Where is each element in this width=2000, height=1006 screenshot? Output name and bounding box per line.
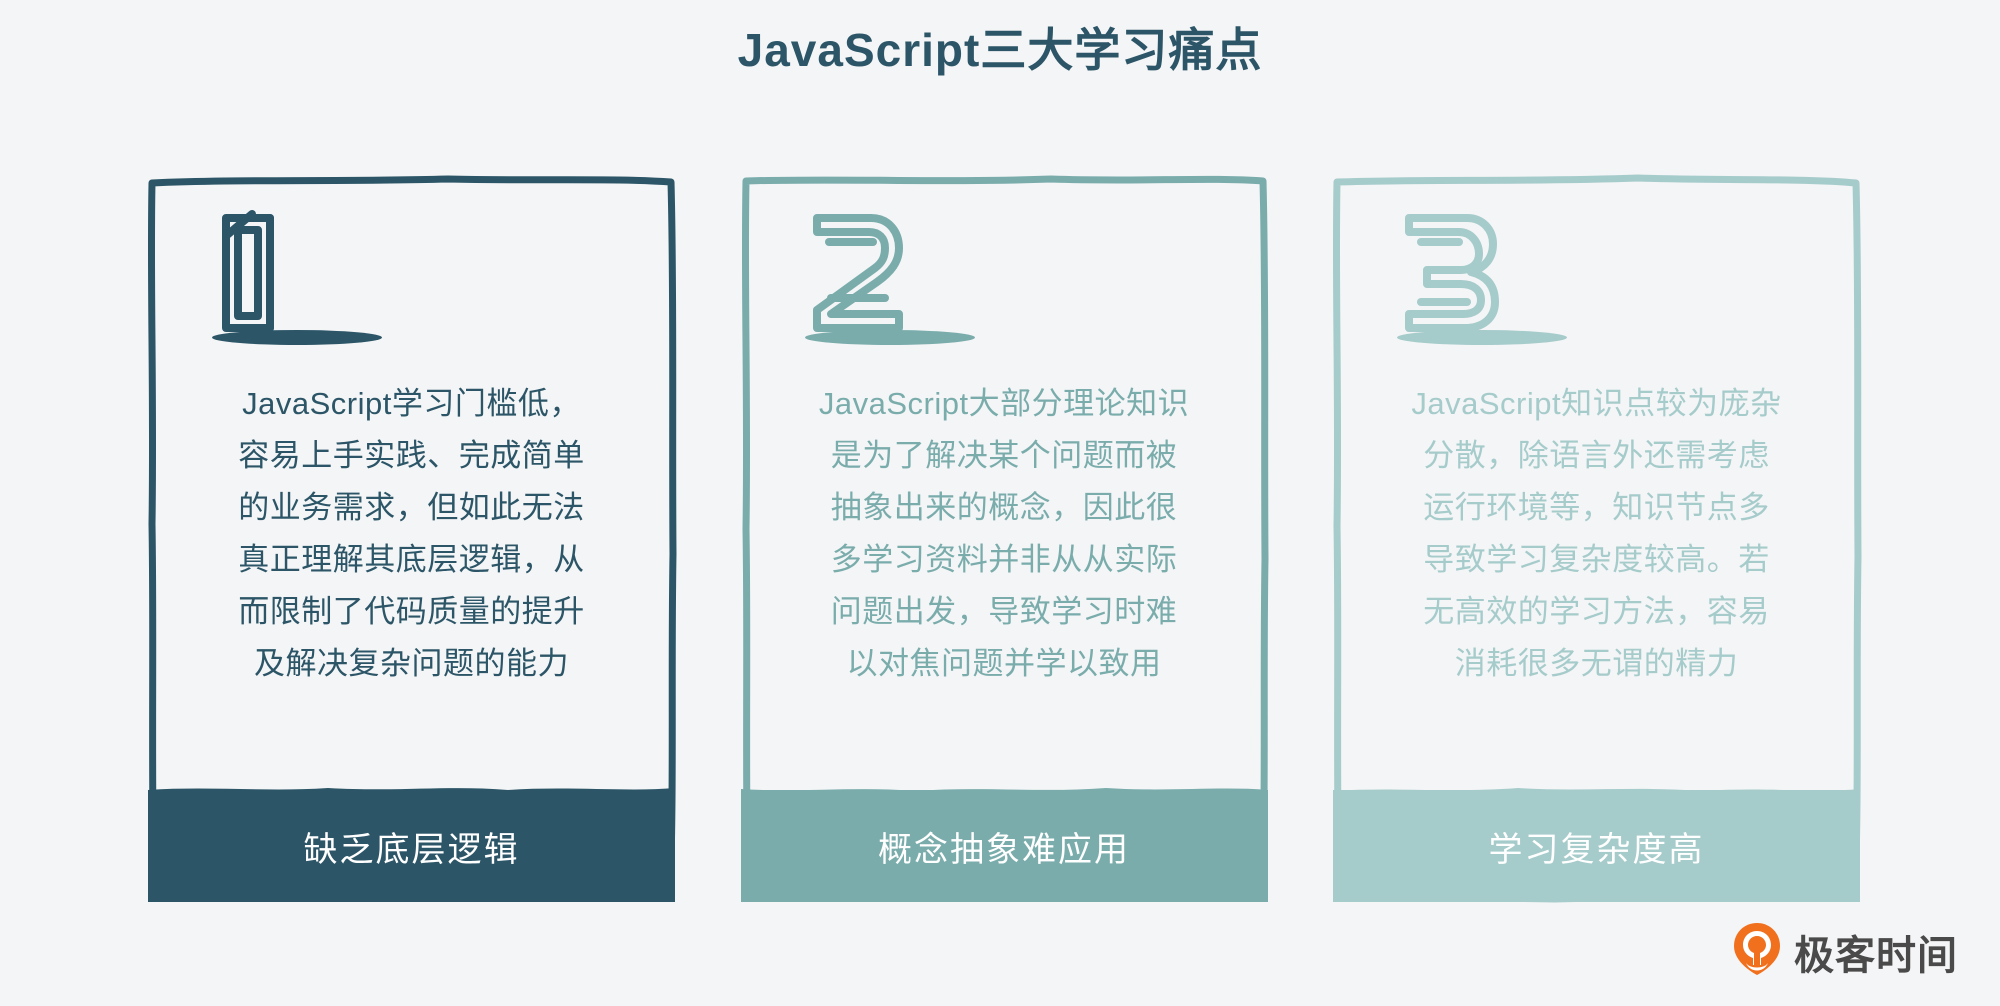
outline-number-two-icon xyxy=(801,198,1224,338)
card-footer-label: 学习复杂度高 xyxy=(1489,822,1705,871)
card-numeral xyxy=(1393,198,1816,364)
card-footer[interactable]: 概念抽象难应用 xyxy=(741,790,1268,902)
card-body: JavaScript知识点较为庞杂 分散，除语言外还需考虑 运行环境等，知识节点… xyxy=(1333,174,1860,790)
footer-torn-edge xyxy=(741,783,1268,797)
card-footer[interactable]: 学习复杂度高 xyxy=(1333,790,1860,902)
brand-name: 极客时间 xyxy=(1794,923,1958,981)
footer-torn-edge xyxy=(1333,783,1860,797)
numeral-shadow xyxy=(1397,330,1567,345)
outline-number-one-icon xyxy=(208,198,631,338)
numeral-shadow xyxy=(805,330,975,345)
outline-number-three-icon xyxy=(1393,198,1816,338)
card-body: JavaScript大部分理论知识 是为了解决某个问题而被 抽象出来的概念，因此… xyxy=(741,174,1268,790)
numeral-shadow xyxy=(212,330,382,345)
card-description: JavaScript知识点较为庞杂 分散，除语言外还需考虑 运行环境等，知识节点… xyxy=(1377,378,1816,690)
card-body: JavaScript学习门槛低， 容易上手实践、完成简单 的业务需求，但如此无法… xyxy=(148,174,675,790)
footer-torn-edge xyxy=(148,783,675,797)
card-numeral xyxy=(208,198,631,364)
card-description: JavaScript大部分理论知识 是为了解决某个问题而被 抽象出来的概念，因此… xyxy=(785,378,1224,690)
page-title: JavaScript三大学习痛点 xyxy=(0,18,2000,82)
card-description: JavaScript学习门槛低， 容易上手实践、完成简单 的业务需求，但如此无法… xyxy=(192,378,631,690)
card-footer[interactable]: 缺乏底层逻辑 xyxy=(148,790,675,902)
pain-point-card-2[interactable]: JavaScript大部分理论知识 是为了解决某个问题而被 抽象出来的概念，因此… xyxy=(741,174,1268,902)
card-numeral xyxy=(801,198,1224,364)
pain-point-card-list: JavaScript学习门槛低， 容易上手实践、完成简单 的业务需求，但如此无法… xyxy=(148,174,1860,902)
pain-point-card-3[interactable]: JavaScript知识点较为庞杂 分散，除语言外还需考虑 运行环境等，知识节点… xyxy=(1333,174,1860,902)
geektime-pin-logo-icon xyxy=(1732,921,1782,982)
card-footer-label: 缺乏底层逻辑 xyxy=(304,822,520,871)
pain-point-card-1[interactable]: JavaScript学习门槛低， 容易上手实践、完成简单 的业务需求，但如此无法… xyxy=(148,174,675,902)
card-footer-label: 概念抽象难应用 xyxy=(878,822,1130,871)
brand-logo[interactable]: 极客时间 xyxy=(1732,921,1958,982)
